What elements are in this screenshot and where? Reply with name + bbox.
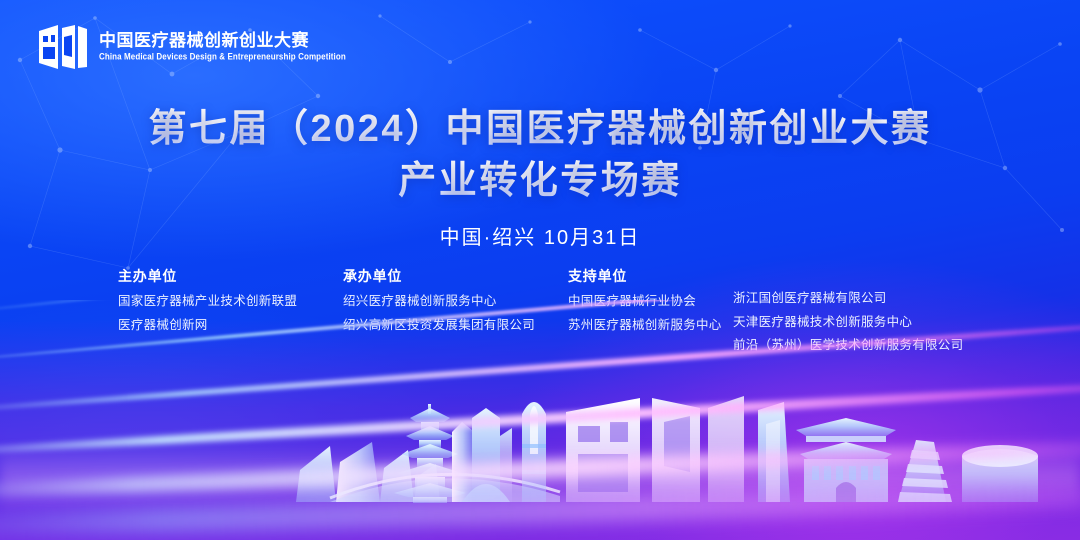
light-streak — [0, 313, 1080, 418]
event-title-line2: 产业转化专场赛 — [0, 156, 1080, 208]
organizer-heading: 主办单位 — [118, 266, 343, 286]
organizer-heading: 承办单位 — [343, 266, 568, 286]
event-title-line1: 第七届（2024）中国医疗器械创新创业大赛 — [0, 104, 1080, 156]
competition-logo-mark — [38, 24, 88, 70]
logo-chinese-name: 中国医疗器械创新创业大赛 — [99, 32, 346, 51]
title-block: 第七届（2024）中国医疗器械创新创业大赛 产业转化专场赛 中国·绍兴 10月3… — [0, 104, 1080, 250]
logo-english-name: China Medical Devices Design & Entrepren… — [99, 53, 346, 63]
event-banner: 中国医疗器械创新创业大赛 China Medical Devices Desig… — [0, 0, 1080, 540]
light-streaks-decoration — [0, 300, 1080, 540]
organizer-heading: 支持单位 — [568, 266, 733, 286]
event-location-date: 中国·绍兴 10月31日 — [0, 221, 1080, 250]
light-streak — [0, 300, 1080, 368]
competition-logo: 中国医疗器械创新创业大赛 China Medical Devices Desig… — [38, 24, 346, 70]
